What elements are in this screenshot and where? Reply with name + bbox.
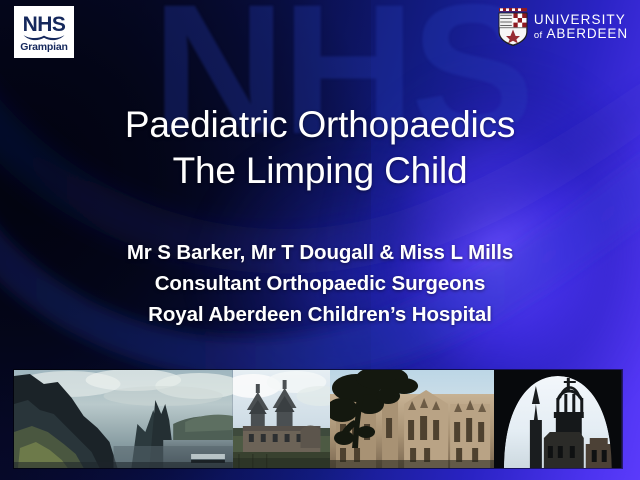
title-slide: NHS NHS Grampian (0, 0, 640, 480)
nhs-grampian-logo: NHS Grampian (14, 6, 74, 58)
university-crest-icon (498, 8, 528, 46)
photo-old-man-of-storr-loch (14, 370, 233, 468)
slide-subtitle: Mr S Barker, Mr T Dougall & Miss L Mills… (0, 237, 640, 330)
university-logo-of: of (534, 30, 543, 41)
photo-marischal-college (330, 370, 494, 468)
university-logo-line1: UNIVERSITY (534, 13, 628, 27)
slide-title-line-1: Paediatric Orthopaedics (0, 102, 640, 148)
university-logo-text: UNIVERSITY of ABERDEEN (534, 13, 628, 41)
university-logo-aberdeen: ABERDEEN (547, 26, 628, 41)
slide-subtitle-institution: Royal Aberdeen Children’s Hospital (0, 299, 640, 330)
photo-strip (14, 370, 622, 468)
photo-distillery-pagoda-roofs (233, 370, 330, 468)
nhs-region-text: Grampian (20, 42, 67, 53)
slide-subtitle-role: Consultant Orthopaedic Surgeons (0, 268, 640, 299)
university-logo-line2: of ABERDEEN (534, 27, 628, 41)
slide-title: Paediatric Orthopaedics The Limping Chil… (0, 102, 640, 193)
slide-title-line-2: The Limping Child (0, 148, 640, 194)
university-of-aberdeen-logo: UNIVERSITY of ABERDEEN (498, 8, 628, 46)
slide-subtitle-authors: Mr S Barker, Mr T Dougall & Miss L Mills (0, 237, 640, 268)
photo-kings-college-crown-tower (494, 370, 622, 468)
nhs-logo-text: NHS (23, 14, 66, 35)
